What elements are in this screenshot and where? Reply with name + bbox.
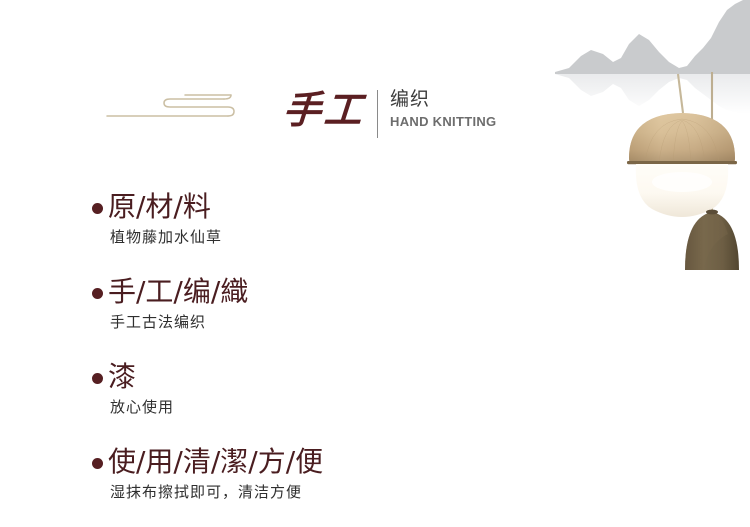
title-divider <box>377 90 378 138</box>
feature-title: 使/用/清/潔/方/便 <box>108 445 323 479</box>
feature-title-row: 使/用/清/潔/方/便 <box>0 443 520 481</box>
scenery-illustration <box>555 0 750 275</box>
feature-title-row: 漆 <box>0 358 520 396</box>
mountain-reflection <box>555 74 750 114</box>
header-row: 手工 编织 HAND KNITTING <box>0 86 530 142</box>
feature-title: 手/工/编/織 <box>108 275 248 309</box>
title-right-column: 编织 HAND KNITTING <box>390 82 496 130</box>
feature-list: 原/材/料 植物藤加水仙草 手/工/编/織 手工古法编织 漆 放心使用 使/用/… <box>0 188 520 527</box>
title-block: 手工 编织 HAND KNITTING <box>283 82 496 142</box>
feature-item: 手/工/编/織 手工古法编织 <box>0 273 520 358</box>
feature-subtitle: 植物藤加水仙草 <box>0 227 520 247</box>
feature-title: 原/材/料 <box>108 190 211 224</box>
feature-subtitle: 放心使用 <box>0 397 520 417</box>
bullet-dot-icon <box>92 288 103 299</box>
bullet-dot-icon <box>92 458 103 469</box>
feature-item: 漆 放心使用 <box>0 358 520 443</box>
feature-title: 漆 <box>108 360 136 394</box>
mountain-silhouette <box>555 0 750 74</box>
feature-title-row: 手/工/编/織 <box>0 273 520 311</box>
bullet-dot-icon <box>92 373 103 384</box>
chinese-cloud-motif-icon <box>106 90 252 124</box>
feature-title-row: 原/材/料 <box>0 188 520 226</box>
title-en-subtitle: HAND KNITTING <box>390 113 496 130</box>
bullet-dot-icon <box>92 203 103 214</box>
feature-item: 原/材/料 植物藤加水仙草 <box>0 188 520 273</box>
pendant-lamp-large <box>627 113 737 217</box>
title-cn-subtitle: 编织 <box>390 88 496 111</box>
feature-item: 使/用/清/潔/方/便 湿抹布擦拭即可，清洁方便 <box>0 443 520 527</box>
feature-subtitle: 湿抹布擦拭即可，清洁方便 <box>0 482 520 502</box>
brush-title: 手工 <box>281 88 372 132</box>
pendant-lamp-small <box>685 210 739 270</box>
feature-subtitle: 手工古法编织 <box>0 312 520 332</box>
product-feature-panel: 手工 编织 HAND KNITTING 原/材/料 植物藤加水仙草 手/工/编/… <box>0 0 750 527</box>
lamp-cords <box>678 72 712 210</box>
